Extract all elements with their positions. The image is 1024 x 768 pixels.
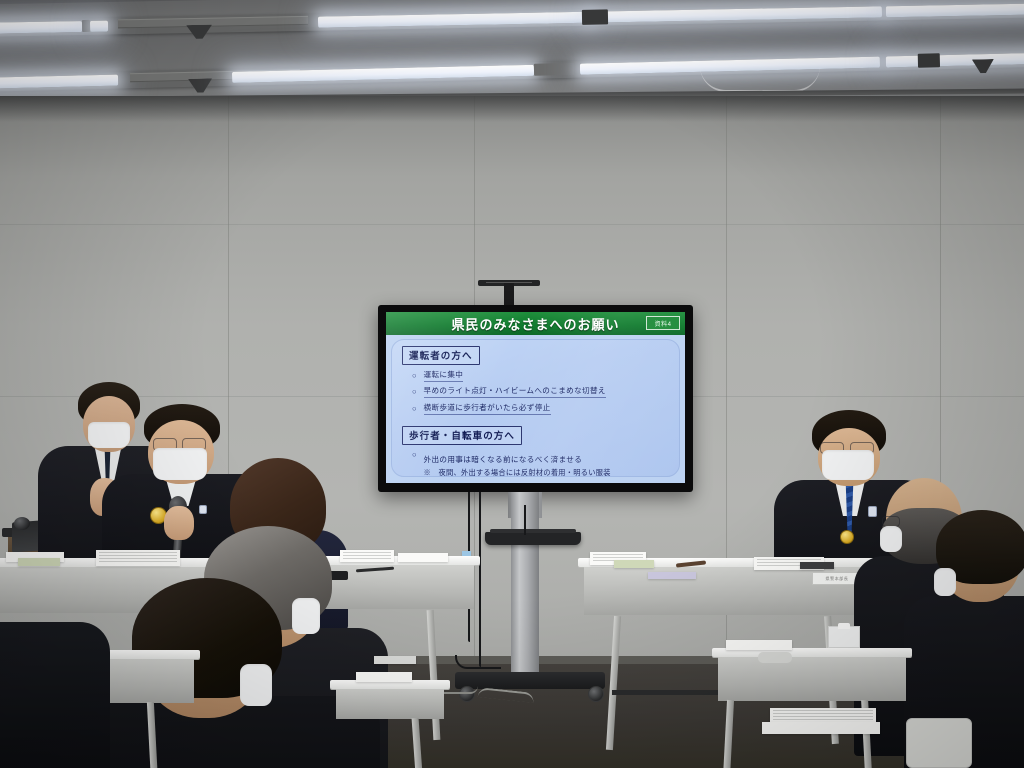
audience-table-center (330, 680, 450, 768)
chair-back (906, 718, 972, 768)
face-mask (240, 664, 272, 706)
ceiling-arc-detail (700, 66, 820, 92)
gold-round-badge (840, 530, 854, 544)
bullet-circle-icon: ○ (412, 403, 417, 414)
ceiling (0, 0, 1024, 98)
slide-body: 運転者の方へ ○ 運転に集中 ○ 早めのライト点灯・ハイビームへのこまめな切替え… (391, 339, 680, 477)
bullet-text: 外出の用事は暗くなる前になるべく済ませる (424, 455, 583, 465)
monitor-screen: 県民のみなさまへのお願い 資料4 運転者の方へ ○ 運転に集中 ○ 早めのライト… (386, 312, 685, 483)
slide-bullet: ○ 早めのライト点灯・ハイビームへのこまめな切替え (402, 386, 671, 398)
tissue-box (828, 626, 860, 648)
paper-sheet (398, 553, 448, 562)
hand (164, 506, 194, 540)
face-mask (822, 450, 874, 480)
bullet-text: 早めのライト点灯・ハイビームへのこまめな切替え (424, 386, 606, 398)
paper-sheet (726, 640, 792, 650)
paper-sheet (762, 722, 880, 734)
face-mask (153, 448, 207, 480)
slide-badge: 資料4 (646, 316, 680, 330)
face-mask (880, 526, 902, 552)
handout (18, 558, 60, 566)
bullet-circle-icon: ○ (412, 370, 417, 381)
face-mask (934, 568, 956, 596)
slide-section-pedestrians: 歩行者・自転車の方へ ○ 外出の用事は暗くなる前になるべく済ませる ※ 夜間、外… (402, 426, 671, 479)
slide-section-drivers: 運転者の方へ ○ 運転に集中 ○ 早めのライト点灯・ハイビームへのこまめな切替え… (402, 346, 671, 415)
paper-sheet (356, 672, 412, 682)
desk-microphone (14, 517, 30, 530)
fluorescent-light-fixture (0, 49, 1024, 92)
bullet-circle-icon: ○ (412, 449, 417, 460)
document-stack (96, 550, 180, 566)
slide-title-bar: 県民のみなさまへのお願い 資料4 (386, 312, 685, 335)
handout (614, 560, 654, 568)
presentation-monitor[interactable]: 県民のみなさまへのお願い 資料4 運転者の方へ ○ 運転に集中 ○ 早めのライト… (378, 305, 693, 492)
bullet-text: 運転に集中 (424, 370, 464, 382)
paper-sheet (374, 656, 416, 664)
slide-bullet: ○ 外出の用事は暗くなる前になるべく済ませる ※ 夜間、外出する場合には反射材の… (402, 449, 671, 478)
bullet-circle-icon: ○ (412, 386, 417, 397)
binder (800, 562, 834, 569)
caster-wheel (588, 686, 604, 702)
bullet-text: 横断歩道に歩行者がいたら必ず停止 (424, 403, 551, 415)
conference-room-photo: 県民のみなさまへのお願い 資料4 運転者の方へ ○ 運転に集中 ○ 早めのライト… (0, 0, 1024, 768)
folded-mask (758, 652, 792, 663)
section-heading: 運転者の方へ (402, 346, 480, 365)
av-cart-shelf (485, 532, 581, 545)
bullet-note: ※ 夜間、外出する場合には反射材の着用・明るい服装 (424, 468, 611, 478)
slide-bullet: ○ 横断歩道に歩行者がいたら必ず停止 (402, 403, 671, 415)
attendee-dark-hair-right (938, 516, 1024, 676)
monitor-cable (524, 505, 526, 535)
nameplate-text: 県警本部長 (826, 576, 849, 582)
section-heading: 歩行者・自転車の方へ (402, 426, 522, 445)
slide-bullet: ○ 運転に集中 (402, 370, 671, 382)
lapel-pin (199, 505, 207, 514)
handout (648, 572, 696, 579)
lapel-pin (868, 506, 877, 517)
slide-title: 県民のみなさまへのお願い (451, 314, 619, 334)
attendee-left-edge (0, 612, 120, 768)
